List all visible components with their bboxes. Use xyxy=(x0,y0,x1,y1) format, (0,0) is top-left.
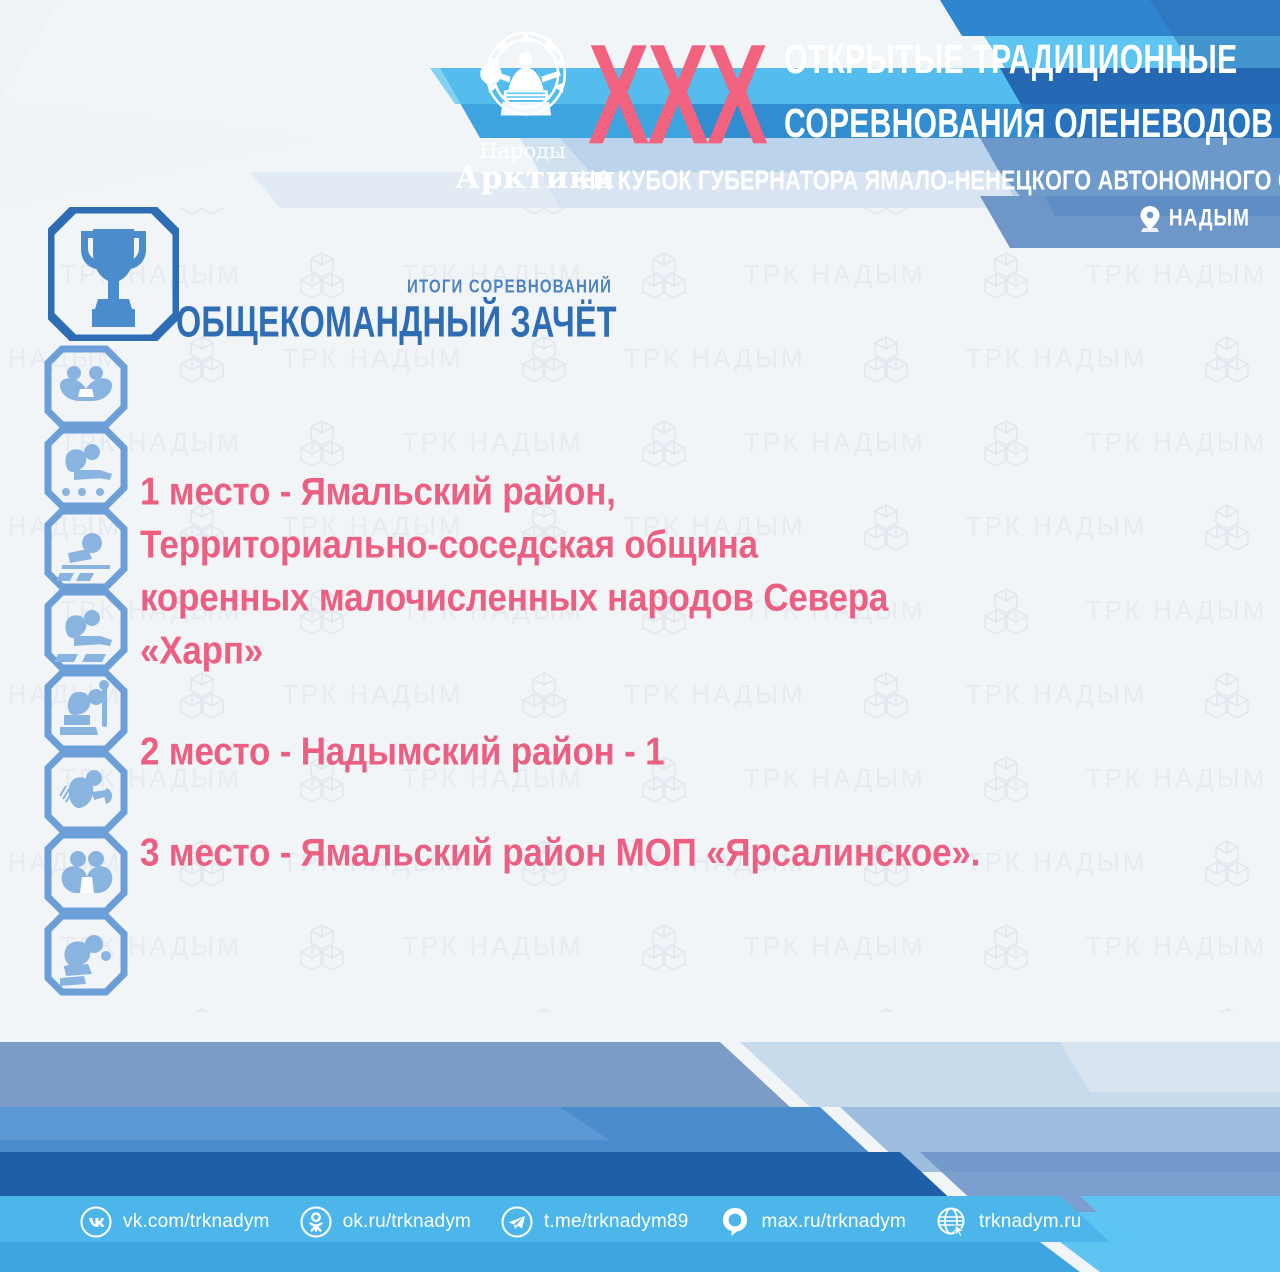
result-line: «Харп» xyxy=(140,621,1200,680)
cubes-logo-icon xyxy=(864,334,908,382)
logo-line-1: Народы xyxy=(455,140,590,162)
sled-jumping-icon xyxy=(44,507,128,591)
lasso-throwing-icon xyxy=(44,426,128,510)
result-entry-place-1: 1 место - Ямальский район,Территориально… xyxy=(140,462,1200,674)
location-band xyxy=(0,196,1280,248)
cubes-logo-icon xyxy=(1205,502,1249,550)
result-entry-place-3: 3 место - Ямальский район МОП «Ярсалинск… xyxy=(140,823,1200,876)
results-list: 1 место - Ямальский район,Территориально… xyxy=(140,462,1200,924)
map-pin-icon xyxy=(1140,206,1160,232)
sidebar-item-6[interactable] xyxy=(44,750,128,834)
sidebar-item-5[interactable] xyxy=(44,669,128,753)
brand-logo: Народы Арктики xyxy=(455,28,590,196)
sidebar-item-8[interactable] xyxy=(44,912,128,996)
footer-link-label: max.ru/trknadym xyxy=(762,1211,906,1233)
result-line: Территориально-соседская община xyxy=(140,515,1200,574)
axe-throwing-icon xyxy=(44,750,128,834)
max-icon xyxy=(719,1206,751,1238)
poster-root: ТРК НАДЫМ ТРК НАДЫМ ТРК НАДЫМ xyxy=(0,0,1280,1272)
section-kicker: ИТОГИ СОРЕВНОВАНИЙ xyxy=(407,277,612,297)
sledge-jump-icon xyxy=(44,912,128,996)
arctic-drummer-emblem-icon xyxy=(469,28,577,133)
watermark-text: ТРК НАДЫМ xyxy=(1086,931,1268,962)
cubes-logo-icon xyxy=(300,250,344,298)
cubes-logo-icon xyxy=(984,418,1028,466)
location-badge: НАДЫМ xyxy=(1140,206,1250,232)
reindeer-sled-race-icon xyxy=(44,345,128,429)
cubes-logo-icon xyxy=(1205,838,1249,886)
footer-social-links: vk.com/trknadym ok.ru/trknadym t.me/trkn… xyxy=(0,1196,1280,1248)
sidebar-item-2[interactable] xyxy=(44,426,128,510)
result-line: 1 место - Ямальский район, xyxy=(140,462,1200,521)
footer-link-globe[interactable]: trknadym.ru xyxy=(936,1206,1082,1238)
sidebar-item-1[interactable] xyxy=(44,345,128,429)
cubes-logo-icon xyxy=(642,922,686,970)
footer-link-max[interactable]: max.ru/trknadym xyxy=(719,1206,906,1238)
sidebar-item-3[interactable] xyxy=(44,507,128,591)
watermark-text: ТРК НАДЫМ xyxy=(744,931,926,962)
trophy-icon xyxy=(48,207,179,341)
cubes-logo-icon xyxy=(1205,334,1249,382)
cubes-logo-icon xyxy=(300,418,344,466)
cubes-logo-icon xyxy=(984,922,1028,970)
watermark-text: ТРК НАДЫМ xyxy=(1086,259,1268,290)
vk-icon xyxy=(80,1206,112,1238)
trophy-frame xyxy=(48,207,179,341)
footer-link-label: t.me/trknadym89 xyxy=(544,1211,689,1233)
sport-icon-sidebar xyxy=(44,345,136,993)
result-line: коренных малочисленных народов Севера xyxy=(140,568,1200,627)
footer-link-ok[interactable]: ok.ru/trknadym xyxy=(300,1206,471,1238)
cubes-logo-icon xyxy=(642,418,686,466)
location-band-graphic xyxy=(0,196,1280,248)
cubes-logo-icon xyxy=(1205,670,1249,718)
result-line: 2 место - Надымский район - 1 xyxy=(140,722,1200,781)
cubes-logo-icon xyxy=(300,922,344,970)
location-label: НАДЫМ xyxy=(1169,205,1250,233)
sidebar-item-4[interactable] xyxy=(44,588,128,672)
footer-link-label: vk.com/trknadym xyxy=(123,1211,270,1233)
result-line: 3 место - Ямальский район МОП «Ярсалинск… xyxy=(140,823,1200,882)
event-title-line-1: ОТКРЫТЫЕ ТРАДИЦИОННЫЕ xyxy=(784,36,1237,84)
event-subtitle: НА КУБОК ГУБЕРНАТОРА ЯМАЛО-НЕНЕЦКОГО АВТ… xyxy=(580,164,1280,197)
watermark-text: ТРК НАДЫМ xyxy=(624,343,806,374)
page-title: ОБЩЕКОМАНДНЫЙ ЗАЧЁТ xyxy=(176,297,617,347)
watermark-text: ТРК НАДЫМ xyxy=(402,931,584,962)
globe-icon xyxy=(936,1206,968,1238)
logo-line-2: Арктики xyxy=(455,162,590,194)
cubes-logo-icon xyxy=(642,250,686,298)
lasso-throwing-2-icon xyxy=(44,588,128,672)
edition-number: XXX xyxy=(588,24,766,167)
footer-link-label: ok.ru/trknadym xyxy=(343,1211,471,1233)
watermark-text: ТРК НАДЫМ xyxy=(402,427,584,458)
telegram-icon xyxy=(501,1206,533,1238)
ok-icon xyxy=(300,1206,332,1238)
footer-link-label: trknadym.ru xyxy=(979,1211,1082,1233)
footer-link-telegram[interactable]: t.me/trknadym89 xyxy=(501,1206,689,1238)
national-wrestling-icon xyxy=(44,831,128,915)
watermark-text: ТРК НАДЫМ xyxy=(744,259,926,290)
watermark-text: ТРК НАДЫМ xyxy=(966,343,1148,374)
event-title-line-2: СОРЕВНОВАНИЯ ОЛЕНЕВОДОВ xyxy=(784,100,1273,148)
sidebar-item-7[interactable] xyxy=(44,831,128,915)
cubes-logo-icon xyxy=(984,250,1028,298)
watermark-text: ТРК НАДЫМ xyxy=(1086,427,1268,458)
watermark-text: ТРК НАДЫМ xyxy=(744,427,926,458)
footer-link-vk[interactable]: vk.com/trknadym xyxy=(80,1206,270,1238)
stick-pulling-icon xyxy=(44,669,128,753)
result-entry-place-2: 2 место - Надымский район - 1 xyxy=(140,722,1200,775)
